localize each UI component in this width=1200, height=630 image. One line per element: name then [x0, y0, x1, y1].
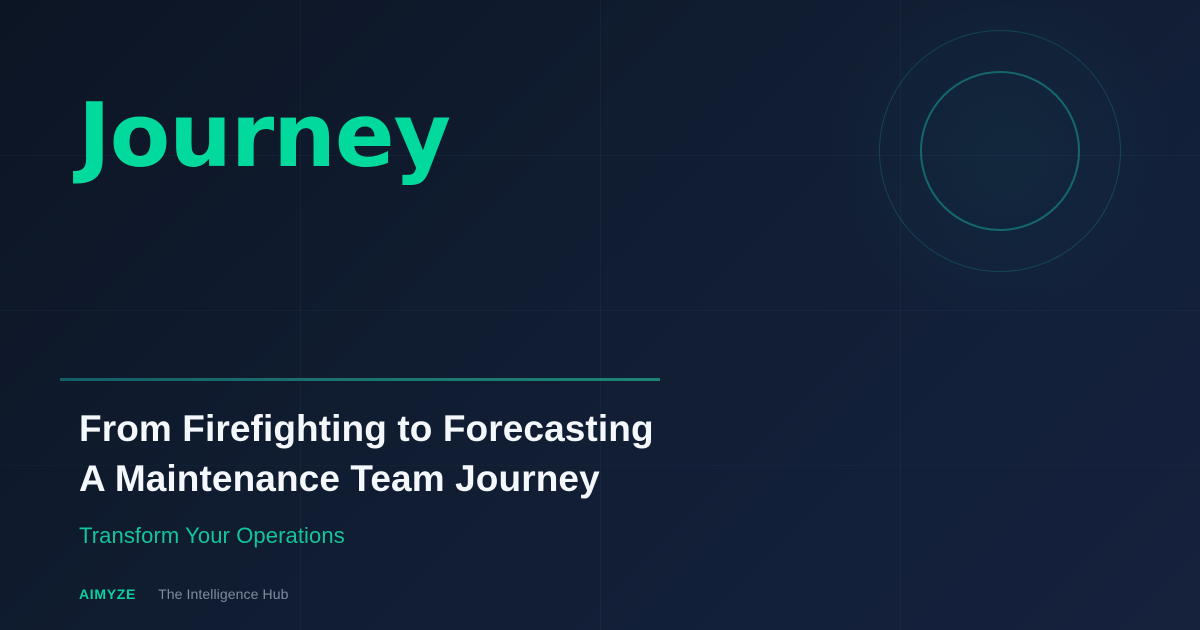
brand-name: AIMYZE — [79, 586, 136, 602]
social-card: Journey From Firefighting to Forecasting… — [0, 0, 1200, 630]
brand-tagline: The Intelligence Hub — [158, 586, 288, 602]
wordmark-title: Journey — [78, 92, 450, 180]
footer: AIMYZE The Intelligence Hub — [79, 586, 289, 602]
text-block: From Firefighting to Forecasting A Maint… — [79, 404, 779, 549]
headline-line-2: A Maintenance Team Journey — [79, 454, 779, 504]
headline-line-1: From Firefighting to Forecasting — [79, 404, 779, 454]
tagline: Transform Your Operations — [79, 523, 779, 549]
inner-ring-icon — [920, 71, 1080, 231]
accent-divider — [60, 378, 660, 381]
